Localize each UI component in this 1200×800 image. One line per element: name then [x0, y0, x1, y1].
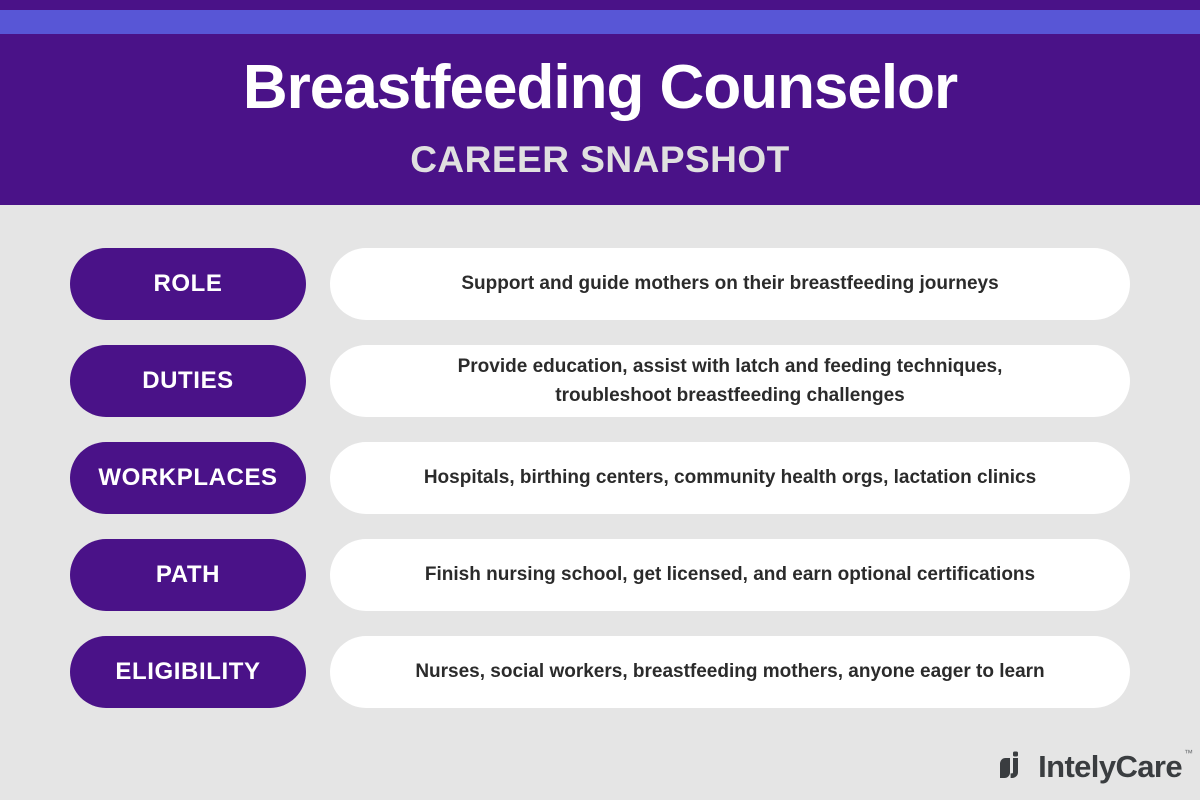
snapshot-row-duties: DUTIES Provide education, assist with la…: [0, 345, 1200, 417]
accent-stripe: [0, 10, 1200, 34]
row-content-card-path: Finish nursing school, get licensed, and…: [330, 539, 1130, 611]
row-content-card-duties: Provide education, assist with latch and…: [330, 345, 1130, 417]
trademark-symbol: ™: [1184, 749, 1193, 758]
snapshot-row-eligibility: ELIGIBILITY Nurses, social workers, brea…: [0, 636, 1200, 708]
row-content-text: Hospitals, birthing centers, community h…: [424, 463, 1036, 492]
row-content-line-1: Support and guide mothers on their breas…: [461, 273, 998, 294]
intelycare-wordmark: IntelyCare ™: [1038, 751, 1182, 782]
row-content-text: Finish nursing school, get licensed, and…: [425, 560, 1035, 589]
row-content-text: Nurses, social workers, breastfeeding mo…: [415, 657, 1044, 686]
row-content-line-1: Nurses, social workers, breastfeeding mo…: [415, 661, 1044, 682]
row-content-line-1: Finish nursing school, get licensed, and…: [425, 564, 1035, 585]
row-label-pill-path: PATH: [70, 539, 306, 611]
intelycare-wordmark-text: IntelyCare: [1038, 749, 1182, 784]
row-label-text: PATH: [156, 561, 220, 589]
intelycare-logo-mark-icon: [997, 750, 1029, 782]
row-content-line-2: troubleshoot breastfeeding challenges: [458, 381, 1003, 410]
intelycare-logo: IntelyCare ™: [997, 750, 1182, 782]
row-label-text: DUTIES: [142, 367, 234, 395]
row-content-card-workplaces: Hospitals, birthing centers, community h…: [330, 442, 1130, 514]
row-label-text: ELIGIBILITY: [115, 658, 260, 686]
snapshot-rows: ROLE Support and guide mothers on their …: [0, 248, 1200, 733]
page-title: Breastfeeding Counselor: [0, 55, 1200, 120]
row-label-text: ROLE: [153, 270, 222, 298]
row-label-pill-role: ROLE: [70, 248, 306, 320]
snapshot-row-path: PATH Finish nursing school, get licensed…: [0, 539, 1200, 611]
snapshot-row-role: ROLE Support and guide mothers on their …: [0, 248, 1200, 320]
snapshot-row-workplaces: WORKPLACES Hospitals, birthing centers, …: [0, 442, 1200, 514]
row-label-text: WORKPLACES: [98, 464, 277, 492]
row-label-pill-workplaces: WORKPLACES: [70, 442, 306, 514]
row-label-pill-duties: DUTIES: [70, 345, 306, 417]
row-content-line-1: Provide education, assist with latch and…: [458, 356, 1003, 377]
row-label-pill-eligibility: ELIGIBILITY: [70, 636, 306, 708]
page-subtitle: CAREER SNAPSHOT: [0, 140, 1200, 181]
row-content-card-eligibility: Nurses, social workers, breastfeeding mo…: [330, 636, 1130, 708]
row-content-text: Provide education, assist with latch and…: [458, 352, 1003, 411]
row-content-card-role: Support and guide mothers on their breas…: [330, 248, 1130, 320]
row-content-text: Support and guide mothers on their breas…: [461, 269, 998, 298]
header-banner: Breastfeeding Counselor CAREER SNAPSHOT: [0, 0, 1200, 205]
row-content-line-1: Hospitals, birthing centers, community h…: [424, 467, 1036, 488]
